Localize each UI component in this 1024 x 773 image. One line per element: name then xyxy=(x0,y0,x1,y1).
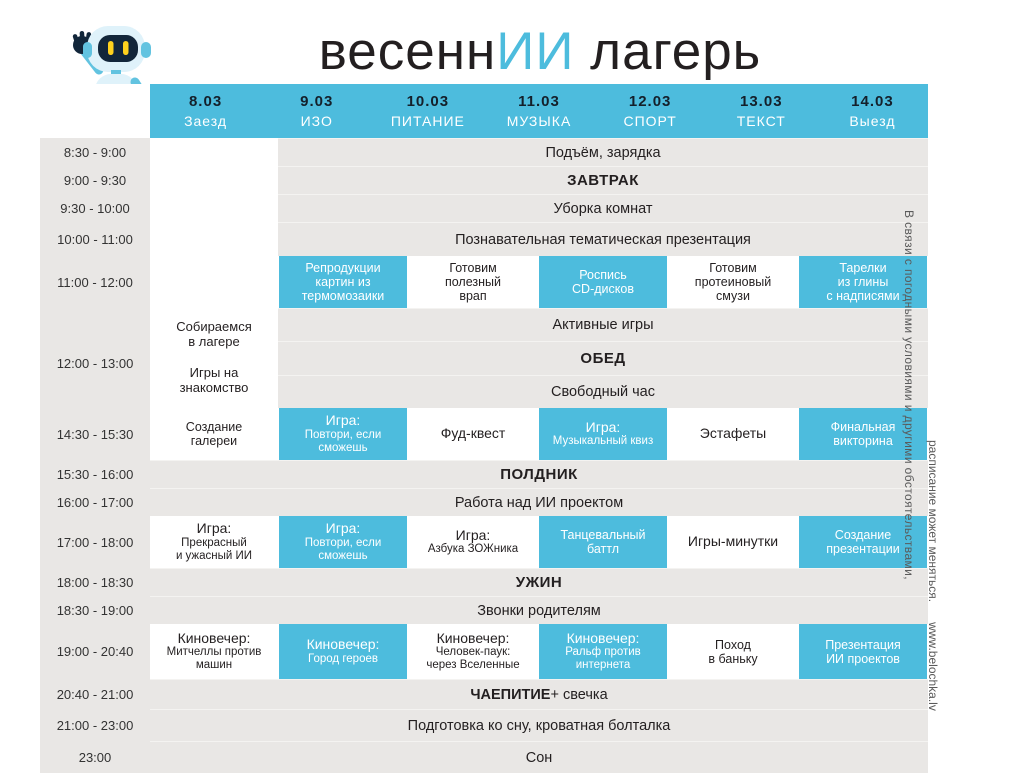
table-row: 20:40 - 21:00 ЧАЕПИТИЕ + свечка xyxy=(40,679,928,709)
activity-text: Тарелкииз глиныс надписями xyxy=(826,261,899,303)
day-header-3[interactable]: 10.03 ПИТАНИЕ xyxy=(372,84,483,138)
activity-cell[interactable]: ПрезентацияИИ проектов xyxy=(799,624,927,679)
banner-active-games: Активные игры xyxy=(278,308,928,341)
activity-cell[interactable]: Игра: Повтори, еслисможешь xyxy=(279,516,407,568)
activity-cell[interactable]: Киновечер: Ральф противинтернета xyxy=(539,624,667,679)
day-topic: Выезд xyxy=(849,113,895,129)
activity-text: Повтори, еслисможешь xyxy=(305,429,382,455)
activity-text: Готовимпротеиновыйсмузи xyxy=(695,261,771,303)
time-label: 17:00 - 18:00 xyxy=(40,516,150,568)
activity-cell[interactable]: Готовимполезныйврап xyxy=(409,256,537,308)
table-row: 10:00 - 11:00 Познавательная тематическа… xyxy=(40,222,928,256)
activity-text: Азбука ЗОЖника xyxy=(428,543,518,556)
activity-text: Походв баньку xyxy=(708,638,757,666)
time-label: 16:00 - 17:00 xyxy=(40,488,150,516)
activity-cell[interactable]: Игра: Музыкальный квиз xyxy=(539,408,667,460)
time-label: 18:00 - 18:30 xyxy=(40,568,150,596)
activity-text: Повтори, еслисможешь xyxy=(305,537,382,563)
activity-title: Игра: xyxy=(586,420,621,436)
time-label: 10:00 - 11:00 xyxy=(40,222,150,256)
banner-parent-calls: Звонки родителям xyxy=(150,596,928,624)
activity-cell[interactable]: Игра: Повтори, еслисможешь xyxy=(279,408,407,460)
time-label: 23:00 xyxy=(40,741,150,773)
activity-cell[interactable]: Игра: Прекрасныйи ужасный ИИ xyxy=(150,516,278,568)
activity-text: Прекрасныйи ужасный ИИ xyxy=(176,537,252,563)
table-row: 9:30 - 10:00 Уборка комнат xyxy=(40,194,928,222)
activity-title: Киновечер: xyxy=(437,631,510,647)
activity-text: Созданиегалереи xyxy=(186,420,242,448)
banner-sleep: Сон xyxy=(150,741,928,773)
activity-text: Репродукциикартин изтермомозаики xyxy=(302,261,385,303)
day1-empty xyxy=(150,256,278,308)
activity-title: Фуд-квест xyxy=(441,426,506,442)
table-row: 17:00 - 18:00 Игра: Прекрасныйи ужасный … xyxy=(40,516,928,568)
day-header-4[interactable]: 11.03 МУЗЫКА xyxy=(483,84,594,138)
day1-empty xyxy=(150,194,278,222)
day1-empty xyxy=(150,138,278,166)
time-label: 12:00 - 13:00 xyxy=(40,308,150,418)
table-header-row: 8.03 Заезд 9.03 ИЗО 10.03 ПИТАНИЕ 11.03 … xyxy=(40,84,928,138)
day-topic: ПИТАНИЕ xyxy=(391,113,465,129)
activity-text: Ральф противинтернета xyxy=(565,646,641,672)
activity-text: Созданиепрезентации xyxy=(826,528,900,556)
activity-cell[interactable]: Репродукциикартин изтермомозаики xyxy=(279,256,407,308)
activity-cell[interactable]: РосписьCD-дисков xyxy=(539,256,667,308)
activity-text: Финальнаявикторина xyxy=(831,420,896,448)
day-date: 8.03 xyxy=(189,93,222,110)
time-label: 15:30 - 16:00 xyxy=(40,460,150,488)
banner-snack: ПОЛДНИК xyxy=(150,460,928,488)
table-row: 23:00 Сон xyxy=(40,741,928,773)
activity-title: Игра: xyxy=(197,521,232,537)
day-topic: Заезд xyxy=(184,113,227,129)
banner-free-hour: Свободный час xyxy=(278,375,928,408)
weather-disclaimer-note: В связи с погодными условиями и другими … xyxy=(892,210,916,610)
day-headers: 8.03 Заезд 9.03 ИЗО 10.03 ПИТАНИЕ 11.03 … xyxy=(150,84,928,138)
banner-cleaning: Уборка комнат xyxy=(278,194,928,222)
activity-cell[interactable]: Готовимпротеиновыйсмузи xyxy=(669,256,797,308)
table-row: 11:00 - 12:00 Репродукциикартин изтермом… xyxy=(40,256,928,308)
title-accent-ai: ИИ xyxy=(496,21,574,82)
time-label: 14:30 - 15:30 xyxy=(40,408,150,460)
title-before: весенн xyxy=(319,21,497,82)
day-date: 14.03 xyxy=(851,93,894,110)
activity-text: РосписьCD-дисков xyxy=(572,268,634,296)
table-row: 15:30 - 16:00 ПОЛДНИК xyxy=(40,460,928,488)
activity-cell[interactable]: Танцевальныйбаттл xyxy=(539,516,667,568)
activity-title: Игра: xyxy=(456,528,491,544)
day-header-6[interactable]: 13.03 ТЕКСТ xyxy=(706,84,817,138)
day-header-2[interactable]: 9.03 ИЗО xyxy=(261,84,372,138)
table-row: 9:00 - 9:30 ЗАВТРАК xyxy=(40,166,928,194)
activity-cell[interactable]: Киновечер: Человек-паук:через Вселенные xyxy=(409,624,537,679)
website-url: www.belochka.lv xyxy=(926,622,940,711)
day-date: 9.03 xyxy=(300,93,333,110)
banner-bedtime: Подготовка ко сну, кроватная болталка xyxy=(150,709,928,741)
activity-cell[interactable]: Игры-минутки xyxy=(669,516,797,568)
activity-title: Киновечер: xyxy=(567,631,640,647)
time-column-header xyxy=(40,84,150,138)
activity-text: Готовимполезныйврап xyxy=(445,261,501,303)
day-date: 13.03 xyxy=(740,93,783,110)
teatime-rest: + свечка xyxy=(550,687,607,703)
time-label: 9:30 - 10:00 xyxy=(40,194,150,222)
day-date: 12.03 xyxy=(629,93,672,110)
disclaimer-line2: расписание может меняться. xyxy=(926,440,940,602)
page-title: весеннИИ лагерь xyxy=(180,18,900,84)
teatime-bold: ЧАЕПИТИЕ xyxy=(470,687,550,703)
banner-ai-project: Работа над ИИ проектом xyxy=(150,488,928,516)
day-header-5[interactable]: 12.03 СПОРТ xyxy=(595,84,706,138)
day1-empty xyxy=(150,166,278,194)
day-topic: ИЗО xyxy=(301,113,333,129)
activity-text: Город героев xyxy=(308,653,378,666)
day1-gallery-cell[interactable]: Созданиегалереи xyxy=(150,408,278,460)
activity-title: Киновечер: xyxy=(307,637,380,653)
table-row: 8:30 - 9:00 Подъём, зарядка xyxy=(40,138,928,166)
day-header-7[interactable]: 14.03 Выезд xyxy=(817,84,928,138)
day-header-1[interactable]: 8.03 Заезд xyxy=(150,84,261,138)
title-after: лагерь xyxy=(574,21,761,82)
table-row: 14:30 - 15:30 Созданиегалереи Игра: Повт… xyxy=(40,408,928,460)
table-row: 18:30 - 19:00 Звонки родителям xyxy=(40,596,928,624)
activity-text: Танцевальныйбаттл xyxy=(560,528,645,556)
banner-lunch: ОБЕД xyxy=(278,341,928,374)
activity-text: ПрезентацияИИ проектов xyxy=(825,638,901,666)
activity-title: Игра: xyxy=(326,521,361,537)
activity-title: Эстафеты xyxy=(700,426,766,442)
table-row: 16:00 - 17:00 Работа над ИИ проектом xyxy=(40,488,928,516)
time-label: 20:40 - 21:00 xyxy=(40,679,150,709)
activity-title: Киновечер: xyxy=(178,631,251,647)
activity-text: Человек-паук:через Вселенные xyxy=(426,646,519,672)
banner-breakfast: ЗАВТРАК xyxy=(278,166,928,194)
activity-title: Игра: xyxy=(326,413,361,429)
time-label: 18:30 - 19:00 xyxy=(40,596,150,624)
schedule-table: 8.03 Заезд 9.03 ИЗО 10.03 ПИТАНИЕ 11.03 … xyxy=(40,84,928,773)
time-label-group: 12:00 - 13:00 13:00 - 13:30 13:30 - 14:3… xyxy=(40,308,150,408)
activity-cell[interactable]: Эстафеты xyxy=(669,408,797,460)
time-label: 19:00 - 20:40 xyxy=(40,624,150,679)
activity-title: Игры-минутки xyxy=(688,534,778,550)
time-label: 21:00 - 23:00 xyxy=(40,709,150,741)
day-date: 11.03 xyxy=(518,93,560,110)
time-label: 11:00 - 12:00 xyxy=(40,256,150,308)
table-row: 18:00 - 18:30 УЖИН xyxy=(40,568,928,596)
activity-cell[interactable]: Киновечер: Город героев xyxy=(279,624,407,679)
day-topic: СПОРТ xyxy=(623,113,676,129)
activity-cell[interactable]: Походв баньку xyxy=(669,624,797,679)
activity-cell[interactable]: Фуд-квест xyxy=(409,408,537,460)
table-row-group: 12:00 - 13:00 13:00 - 13:30 13:30 - 14:3… xyxy=(40,308,928,408)
activity-cell[interactable]: Игра: Азбука ЗОЖника xyxy=(409,516,537,568)
day1-entry: Собираемсяв лагере xyxy=(176,320,252,350)
day1-entry: Игры назнакомство xyxy=(180,366,249,396)
activity-text: Митчеллы противмашин xyxy=(167,646,262,672)
disclaimer-line2-and-website: расписание может меняться. www.belochka.… xyxy=(916,440,940,640)
banner-dinner: УЖИН xyxy=(150,568,928,596)
day1-empty xyxy=(150,222,278,256)
day-topic: ТЕКСТ xyxy=(737,113,786,129)
activity-text: Музыкальный квиз xyxy=(553,435,653,448)
day1-arrival-block[interactable]: Собираемсяв лагере Игры назнакомство xyxy=(150,308,278,408)
day-date: 10.03 xyxy=(407,93,450,110)
activity-cell[interactable]: Киновечер: Митчеллы противмашин xyxy=(150,624,278,679)
banner-presentation: Познавательная тематическая презентация xyxy=(278,222,928,256)
day-topic: МУЗЫКА xyxy=(507,113,572,129)
table-row: 19:00 - 20:40 Киновечер: Митчеллы против… xyxy=(40,624,928,679)
time-label: 9:00 - 9:30 xyxy=(40,166,150,194)
table-row: 21:00 - 23:00 Подготовка ко сну, кроватн… xyxy=(40,709,928,741)
banner-wakeup: Подъём, зарядка xyxy=(278,138,928,166)
banner-teatime: ЧАЕПИТИЕ + свечка xyxy=(150,679,928,709)
disclaimer-line1: В связи с погодными условиями и другими … xyxy=(902,210,916,580)
time-label: 8:30 - 9:00 xyxy=(40,138,150,166)
